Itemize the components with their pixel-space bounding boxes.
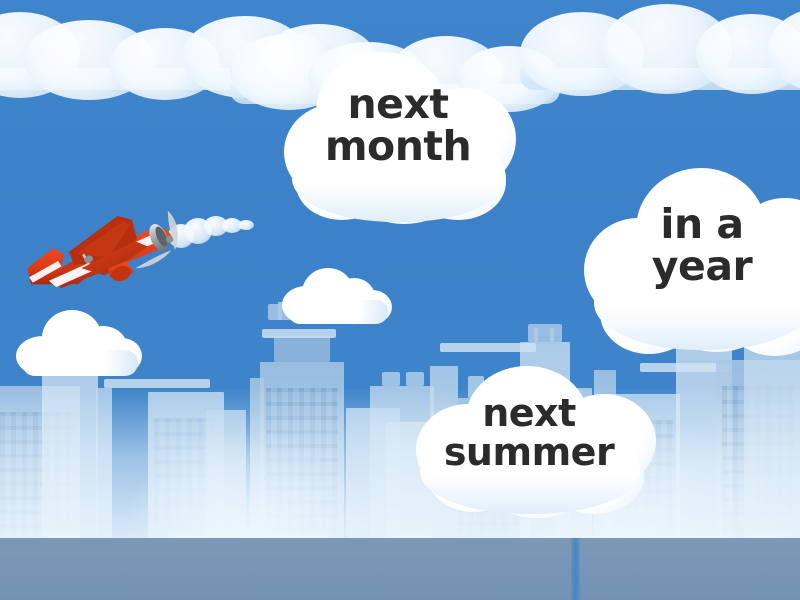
small-cloud <box>282 262 392 324</box>
top-cloud-band <box>520 0 800 100</box>
answer-label-next-summer: next summer <box>410 394 648 472</box>
answer-line-1: next <box>410 394 648 433</box>
answer-line-1: next <box>282 84 514 126</box>
answer-line-1: in a <box>584 204 800 246</box>
small-cloud <box>16 306 142 376</box>
answer-cloud-next-month[interactable]: next month <box>282 52 514 238</box>
answer-line-2: summer <box>410 433 648 472</box>
ground-strip <box>0 538 800 600</box>
ground-seam <box>571 538 580 600</box>
answer-cloud-next-summer[interactable]: next summer <box>410 366 648 530</box>
city-haze <box>120 428 380 538</box>
airplane-icon <box>22 198 202 306</box>
answer-label-in-a-year: in a year <box>584 204 800 288</box>
game-scene: next month in a year next summer <box>0 0 800 600</box>
answer-line-2: month <box>282 126 514 168</box>
answer-label-next-month: next month <box>282 84 514 168</box>
answer-line-2: year <box>584 246 800 288</box>
answer-cloud-in-a-year[interactable]: in a year <box>584 168 800 372</box>
